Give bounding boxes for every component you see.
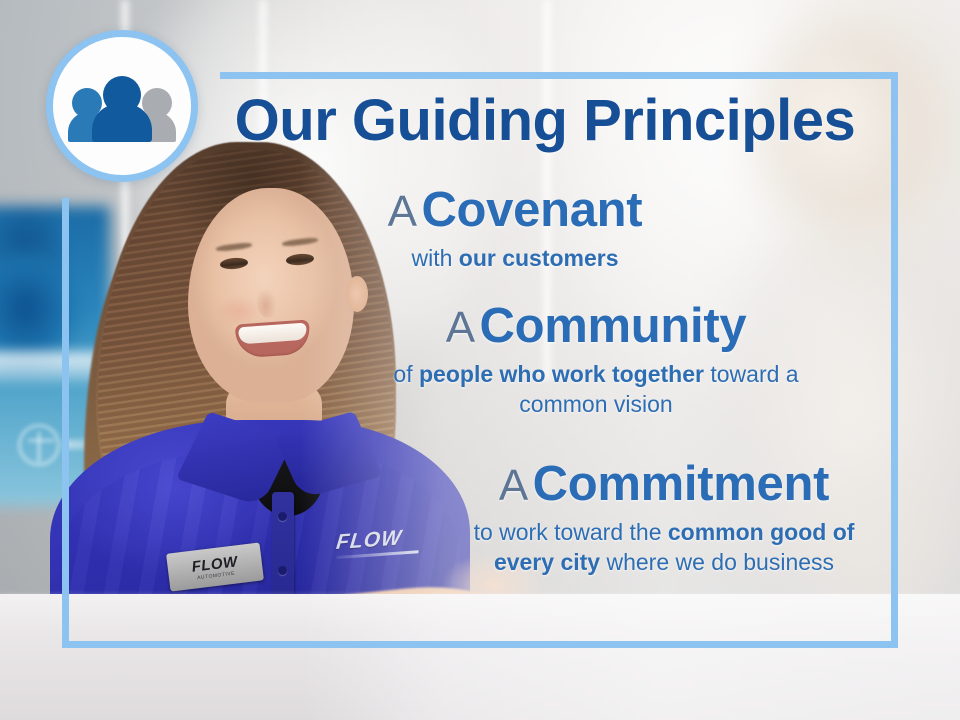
subtext-emphasis: our customers xyxy=(459,245,619,271)
principle-block-commitment: A Commitment to work toward the common g… xyxy=(450,460,878,578)
person-center-body xyxy=(92,104,152,142)
frame-right-border xyxy=(891,72,898,648)
people-group-icon-badge xyxy=(46,30,198,182)
principle-keyword: Commitment xyxy=(533,457,829,511)
frame-bottom-border xyxy=(62,641,898,648)
principle-article: A xyxy=(499,461,528,510)
frame-left-border xyxy=(62,198,69,648)
subtext-emphasis: people who work together xyxy=(419,361,704,387)
principle-subtext: of people who work together toward a com… xyxy=(388,359,804,420)
people-group-icon xyxy=(70,74,174,138)
subtext-run: to work toward the xyxy=(474,519,668,545)
principle-keyword: Community xyxy=(480,299,747,353)
principle-article: A xyxy=(388,187,417,236)
page-title: Our Guiding Principles xyxy=(222,92,868,150)
subtext-run: with xyxy=(411,245,458,271)
principle-keyword: Covenant xyxy=(421,183,642,237)
subtext-run: where we do business xyxy=(600,549,834,575)
principle-article: A xyxy=(446,303,475,352)
principle-headline: A Covenant xyxy=(330,186,700,236)
principle-block-covenant: A Covenant with our customers xyxy=(330,186,700,273)
principle-block-community: A Community of people who work together … xyxy=(388,302,804,420)
principle-headline: A Commitment xyxy=(450,460,878,510)
principle-subtext: to work toward the common good of every … xyxy=(450,517,878,578)
subtext-run: of xyxy=(393,361,419,387)
frame-top-border xyxy=(220,72,898,79)
graphic-canvas: FLOW FLOW AUTOMOTIVE xyxy=(0,0,960,720)
principle-headline: A Community xyxy=(388,302,804,352)
principle-subtext: with our customers xyxy=(330,243,700,273)
